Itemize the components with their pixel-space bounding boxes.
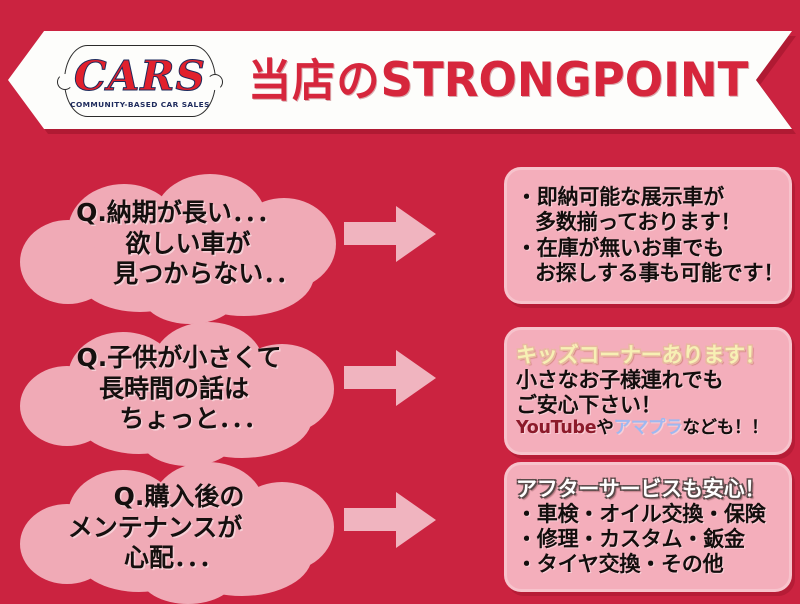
arrow-head (396, 350, 436, 406)
answer-line: お探しする事も可能です！ (516, 261, 780, 286)
answer-line: ・在庫が無いお車でも (516, 236, 780, 261)
answer-headline: キッズコーナーあります！ (516, 343, 780, 368)
question-cloud-1: Q.納期が長い．．． 欲しい車が 見つからない．． (14, 174, 344, 314)
page-title: 当店のSTRONGPOINT (248, 52, 747, 108)
question-line: ちょっと．．． (44, 404, 344, 435)
arrow-shaft (344, 366, 402, 389)
question-text-3: Q.購入後の メンテナンスが 心配．．． (14, 482, 344, 574)
question-text-1: Q.納期が長い．．． 欲しい車が 見つからない．． (14, 198, 344, 290)
question-line: Q.子供が小さくて (14, 343, 344, 374)
answer-line: ・修理・カスタム・鈑金 (516, 527, 780, 552)
question-line: Q.購入後の (14, 482, 344, 513)
logo-tagline: COMMUNITY-BASED CAR SALES (70, 100, 210, 109)
answer-line: 多数揃っております！ (516, 210, 780, 235)
arrow-head (396, 206, 436, 262)
answer-line: 小さなお子様連れでも (516, 368, 780, 393)
conjunction-ya: や (596, 418, 613, 438)
answer-line: ・タイヤ交換・その他 (516, 552, 780, 577)
question-cloud-3: Q.購入後の メンテナンスが 心配．．． (14, 462, 344, 594)
question-line: 見つからない．． (70, 259, 344, 290)
answer-box-1: ・即納可能な展示車が 多数揃っております！ ・在庫が無いお車でも お探しする事も… (504, 167, 792, 304)
answer-line: ・車検・オイル交換・保険 (516, 502, 780, 527)
question-line: Q.納期が長い．．． (14, 198, 344, 229)
youtube-label: YouTube (516, 418, 596, 438)
arrow-shaft (344, 222, 402, 245)
answer-line: ご安心下さい！ (516, 393, 780, 418)
answer-headline: アフターサービスも安心！ (516, 477, 780, 502)
arrow-right-1 (344, 206, 442, 262)
question-line: メンテナンスが (0, 513, 344, 544)
arrow-right-2 (344, 350, 442, 406)
question-line: 心配．．． (4, 543, 344, 574)
question-text-2: Q.子供が小さくて 長時間の話は ちょっと．．． (14, 343, 344, 435)
page-title-jp: 当店の (248, 58, 380, 103)
answer-box-2: キッズコーナーあります！ 小さなお子様連れでも ご安心下さい！ YouTubeや… (504, 327, 792, 455)
arrow-shaft (344, 508, 402, 531)
cars-logo: CARS COMMUNITY-BASED CAR SALES (56, 43, 224, 119)
arrow-head (396, 492, 436, 548)
answer-line-mixed: YouTubeやアマプラなども！！ (516, 418, 780, 439)
arrow-right-3 (344, 492, 442, 548)
mixed-line-tail: なども！！ (682, 418, 768, 438)
logo-wordmark: CARS (74, 56, 206, 97)
answer-line: ・即納可能な展示車が (516, 185, 780, 210)
page-title-en: STRONGPOINT (380, 57, 748, 104)
question-line: 欲しい車が (32, 229, 344, 260)
answer-box-3: アフターサービスも安心！ ・車検・オイル交換・保険 ・修理・カスタム・鈑金 ・タ… (504, 462, 792, 592)
question-cloud-2: Q.子供が小さくて 長時間の話は ちょっと．．． (14, 322, 344, 456)
question-line: 長時間の話は (4, 374, 344, 405)
amazon-prime-label: アマプラ (614, 418, 683, 438)
